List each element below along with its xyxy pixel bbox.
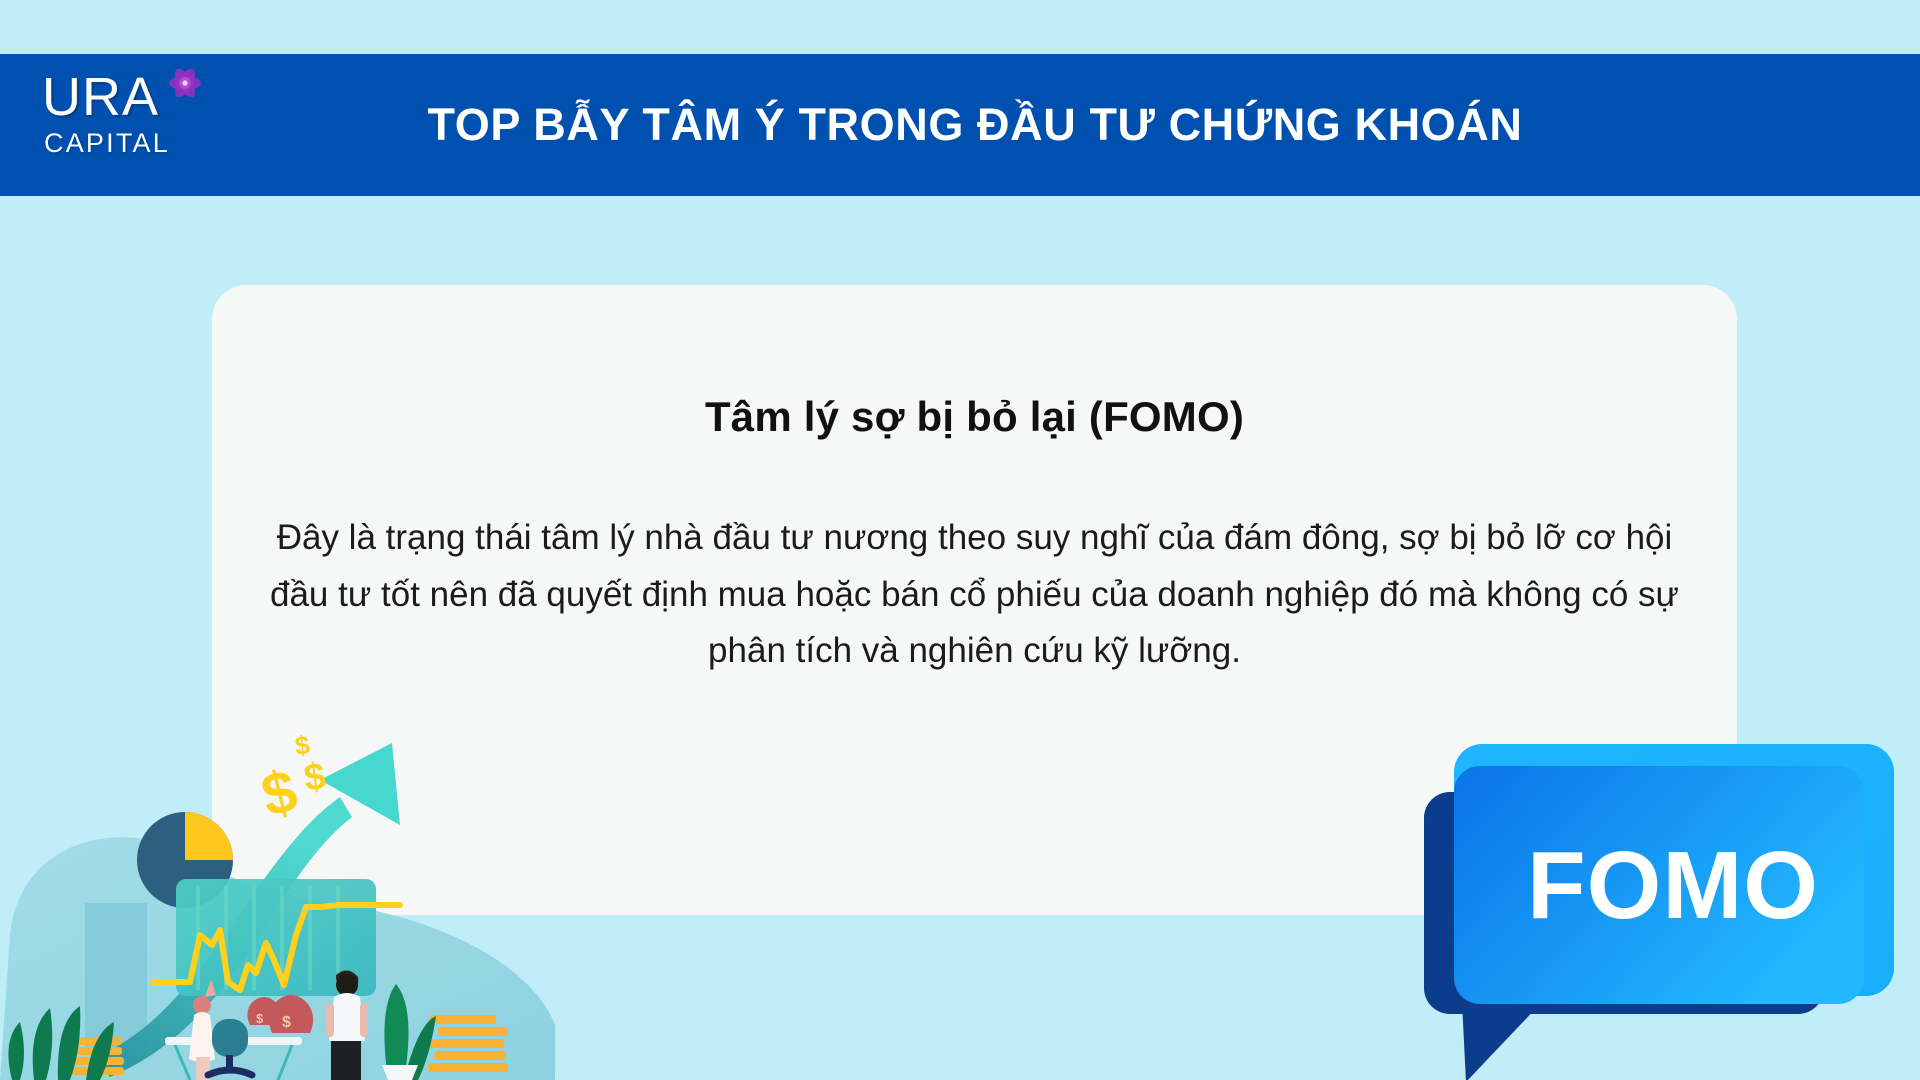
header-band: TOP BẪY TÂM Ý TRONG ĐẦU TƯ CHỨNG KHOÁN U…: [0, 54, 1920, 196]
brand-tagline: CAPITAL: [44, 130, 170, 157]
card-heading: Tâm lý sợ bị bỏ lại (FOMO): [212, 393, 1737, 441]
investment-growth-illustration: $ $ $: [0, 685, 560, 1080]
background-bar: [85, 903, 147, 1053]
card-body-text: Đây là trạng thái tâm lý nhà đầu tư nươn…: [267, 510, 1682, 680]
poster-page: TOP BẪY TÂM Ý TRONG ĐẦU TƯ CHỨNG KHOÁN U…: [0, 0, 1920, 1080]
brand-logo[interactable]: URA CAPITAL: [36, 62, 246, 188]
bubble-front-layer: [1454, 766, 1864, 1004]
atom-icon: [168, 66, 202, 100]
page-title: TOP BẪY TÂM Ý TRONG ĐẦU TƯ CHỨNG KHOÁN: [0, 54, 1920, 196]
svg-text:$: $: [301, 755, 328, 800]
svg-text:$: $: [282, 1014, 291, 1031]
svg-text:$: $: [256, 1011, 264, 1026]
dollar-symbols: $ $ $: [255, 730, 328, 830]
svg-text:$: $: [255, 757, 304, 830]
stock-chart-board: [152, 879, 400, 996]
brand-name: URA: [42, 70, 159, 124]
svg-text:$: $: [293, 730, 311, 761]
fomo-speech-bubble: FOMO: [1424, 744, 1894, 1080]
